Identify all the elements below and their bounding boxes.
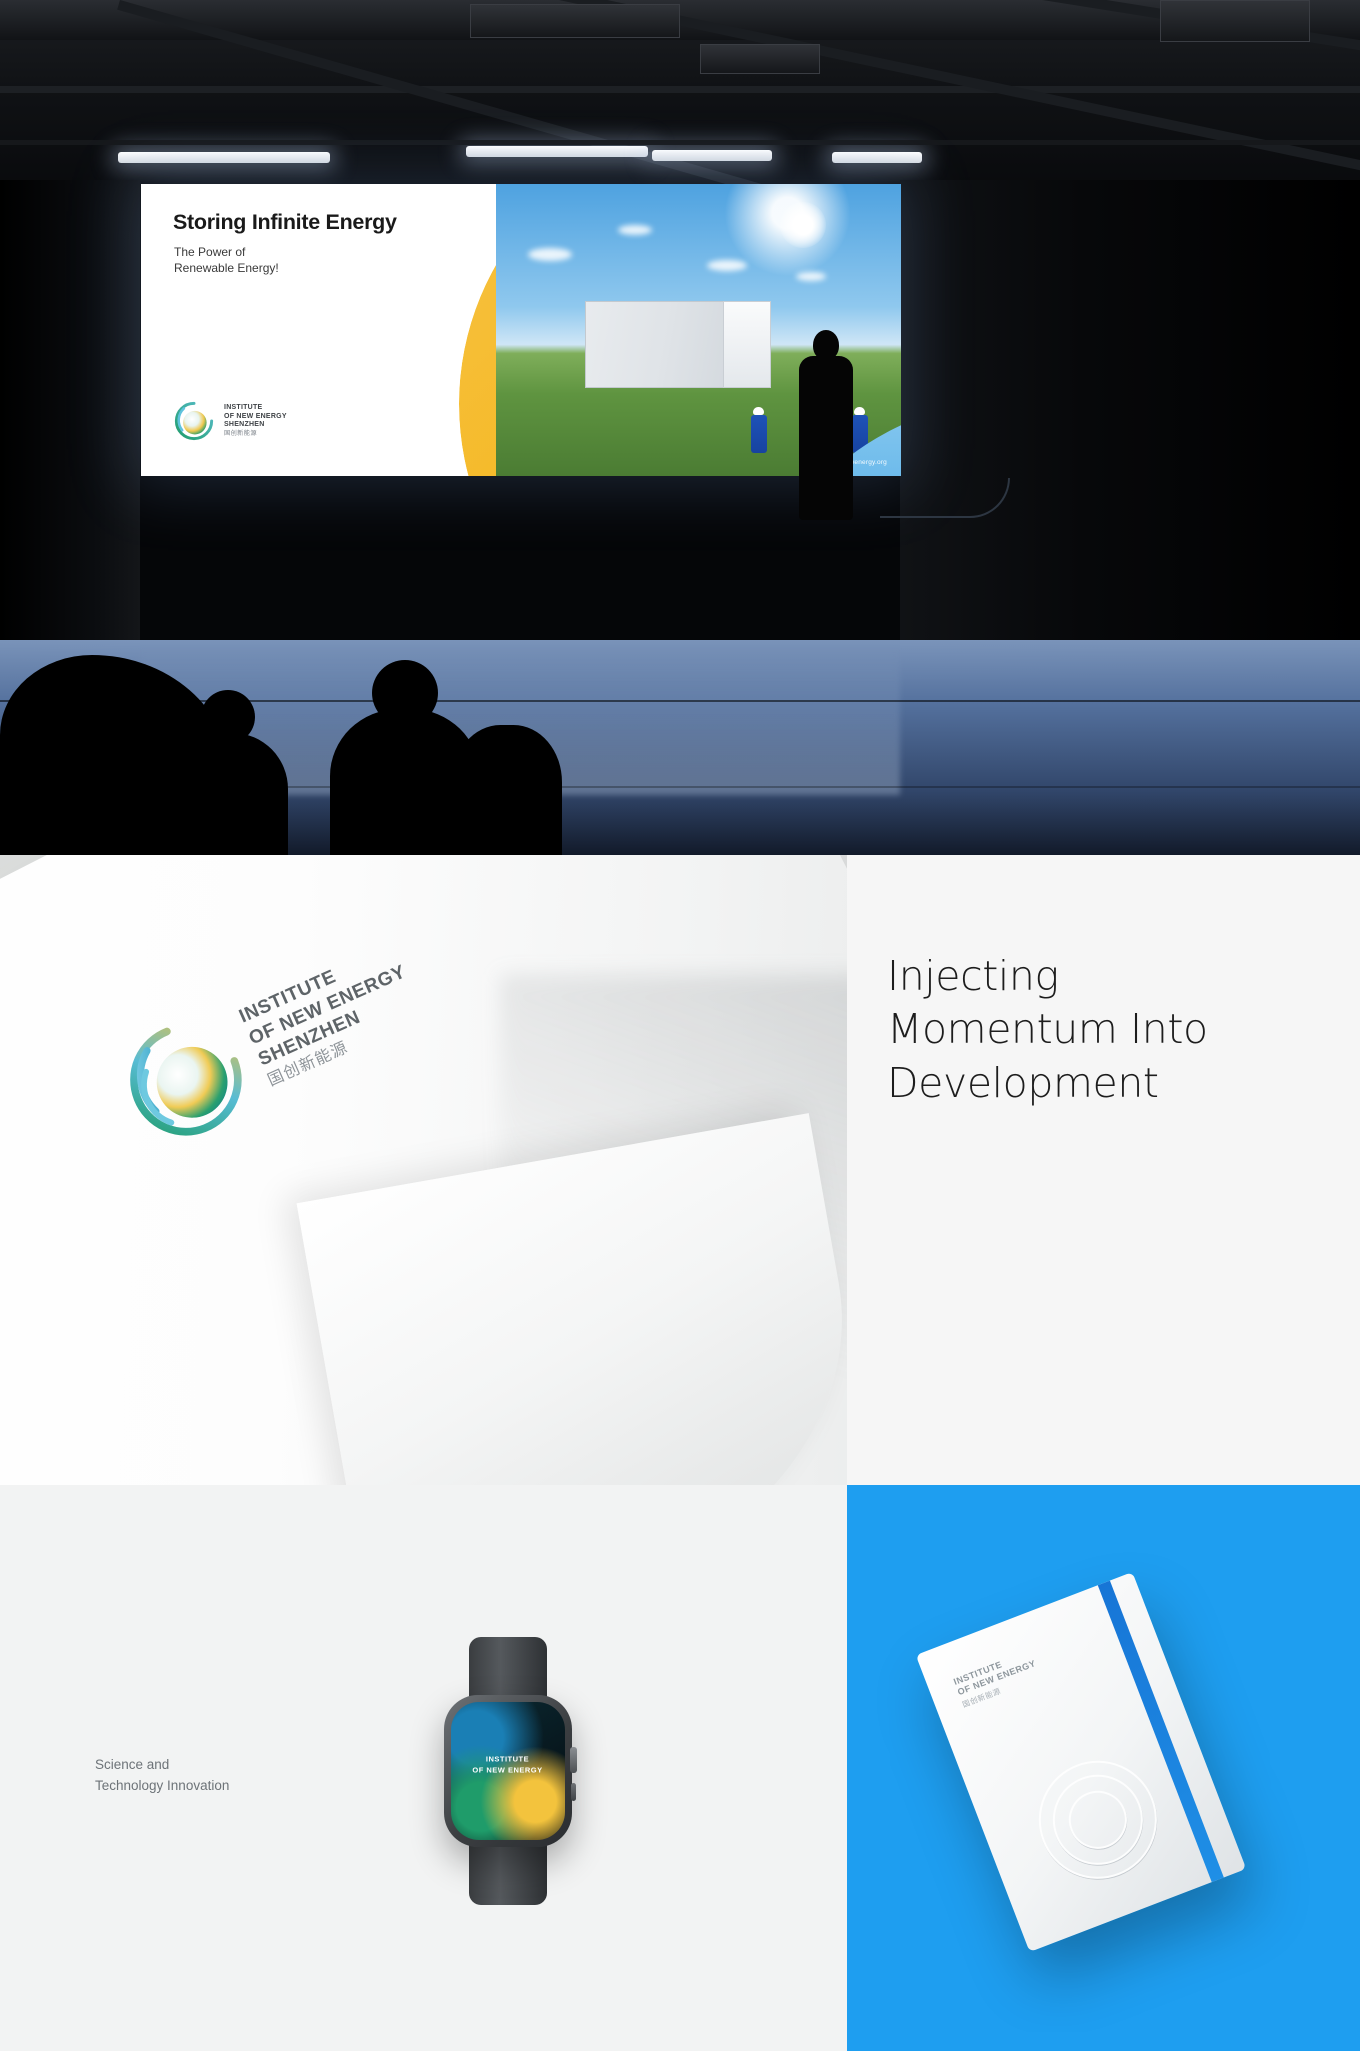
helmet-icon [753, 407, 764, 415]
watch-face-label: INSTITUTE OF NEW ENERGY [451, 1755, 565, 1776]
slide-logo-lockup: INSTITUTE OF NEW ENERGY SHENZHEN 国创新能源 [173, 400, 287, 442]
stage-panel: Storing Infinite Energy The Power of Ren… [0, 0, 1360, 855]
notebook-mockup: INSTITUTE OF NEW ENERGY 国创新能源 [916, 1572, 1247, 1952]
caption-line-2: Technology Innovation [95, 1776, 229, 1797]
watch-label-line-2: OF NEW ENERGY [451, 1765, 565, 1776]
headline-line-2: Momentum Into [887, 1003, 1208, 1056]
logo-line-2: OF NEW ENERGY [224, 413, 287, 421]
branding-portfolio-page: Storing Infinite Energy The Power of Ren… [0, 0, 1360, 2051]
logo-line-1: INSTITUTE [224, 404, 287, 412]
slide-logo-text: INSTITUTE OF NEW ENERGY SHENZHEN 国创新能源 [224, 404, 287, 437]
worker-silhouette [751, 407, 767, 453]
watch-crown[interactable] [570, 1747, 577, 1773]
stage-wall-right [900, 180, 1360, 680]
logo-line-3: SHENZHEN [224, 421, 287, 429]
watch-face-screen: INSTITUTE OF NEW ENERGY [451, 1702, 565, 1840]
swirl-logo-icon [173, 400, 215, 442]
slide-subtitle-line2: Renewable Energy! [174, 260, 279, 276]
ceiling-light [118, 152, 330, 163]
smartwatch-mockup: INSTITUTE OF NEW ENERGY [425, 1637, 590, 1905]
caption-line-1: Science and [95, 1755, 229, 1776]
ceiling-light [466, 146, 648, 157]
stage-wall-left [0, 180, 140, 680]
battery-container [585, 301, 771, 389]
cloud [796, 272, 826, 281]
worker-body [751, 415, 767, 453]
ceiling-grille [700, 44, 820, 74]
watch-mockup-panel: Science and Technology Innovation INSTIT… [0, 1485, 847, 2051]
presenter-silhouette [795, 330, 857, 520]
slide-title: Storing Infinite Energy [173, 210, 397, 235]
paper-mockup-row: INSTITUTE OF NEW ENERGY SHENZHEN 国创新能源 I… [0, 855, 1360, 1485]
product-mockup-row: Science and Technology Innovation INSTIT… [0, 1485, 1360, 2051]
notebook-logo-text: INSTITUTE OF NEW ENERGY 国创新能源 [952, 1648, 1042, 1709]
headline: Injecting Momentum Into Development [887, 950, 1208, 1110]
audience-silhouette [452, 725, 562, 855]
watch-caption: Science and Technology Innovation [95, 1755, 229, 1797]
paper-mockup-panel: INSTITUTE OF NEW ENERGY SHENZHEN 国创新能源 [0, 855, 847, 1485]
headline-line-1: Injecting [887, 950, 1208, 1003]
ceiling-rail [0, 140, 1360, 145]
ceiling-light [832, 152, 922, 163]
headline-panel: Injecting Momentum Into Development [847, 855, 1360, 1485]
headline-line-3: Development [887, 1057, 1208, 1110]
stage-cable [880, 478, 1010, 518]
cloud [707, 260, 747, 271]
notebook-mockup-panel: INSTITUTE OF NEW ENERGY 国创新能源 [847, 1485, 1360, 2051]
ceiling-grille [470, 4, 680, 38]
audience-silhouette [168, 690, 288, 855]
cloud [618, 225, 652, 235]
ceiling-grille [1160, 0, 1310, 42]
watch-label-line-1: INSTITUTE [451, 1755, 565, 1766]
ceiling-truss [0, 86, 1360, 93]
ceiling-light [652, 150, 772, 161]
container-door-panel [723, 301, 771, 388]
sun-flare-icon [780, 202, 826, 248]
watch-side-button[interactable] [571, 1783, 576, 1801]
cloud [528, 248, 572, 261]
notebook-embossed-mark [1022, 1744, 1174, 1896]
led-screen-slide: Storing Infinite Energy The Power of Ren… [141, 184, 901, 476]
slide-subtitle-line1: The Power of [174, 244, 279, 260]
watch-body: INSTITUTE OF NEW ENERGY [444, 1695, 572, 1847]
logo-chinese-name: 国创新能源 [224, 430, 287, 437]
audience-shoulders [168, 733, 288, 855]
presenter-body [799, 356, 853, 520]
slide-subtitle: The Power of Renewable Energy! [174, 244, 279, 276]
